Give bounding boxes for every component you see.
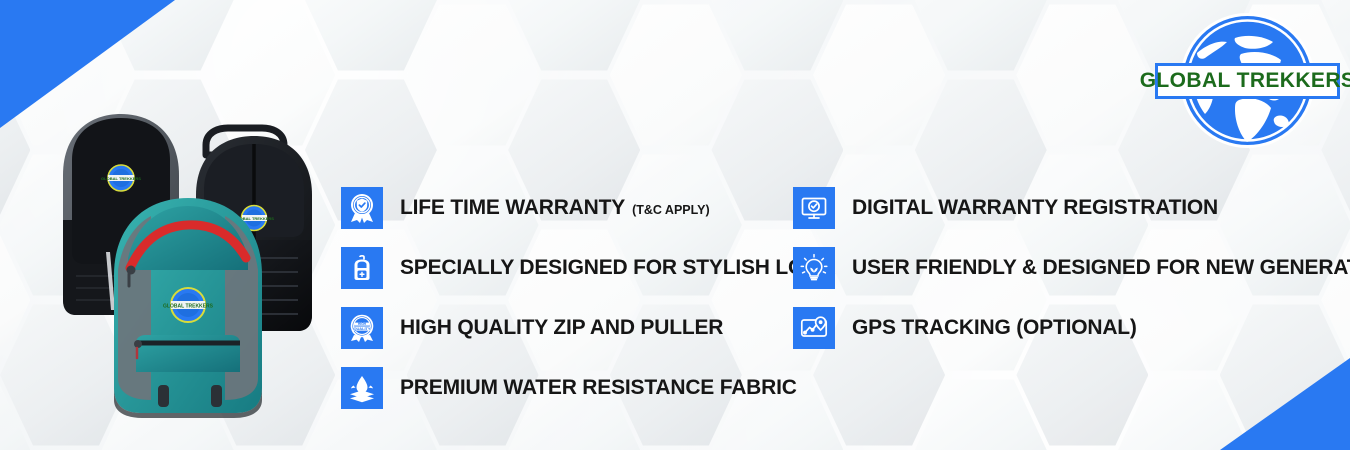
feature-label: SPECIALLY DESIGNED FOR STYLISH LOOK	[400, 256, 835, 280]
feature-text: DIGITAL WARRANTY REGISTRATION	[852, 196, 1218, 219]
feature-item-stylish-look: SPECIALLY DESIGNED FOR STYLISH LOOK	[341, 238, 835, 298]
map-pin-icon	[793, 307, 835, 349]
backpack-icon	[341, 247, 383, 289]
feature-text: USER FRIENDLY & DESIGNED FOR NEW GENERAT…	[852, 256, 1350, 279]
feature-list-right: DIGITAL WARRANTY REGISTRATION	[793, 178, 1350, 358]
feature-label: GPS TRACKING (OPTIONAL)	[852, 316, 1137, 340]
feature-item-digital-warranty: DIGITAL WARRANTY REGISTRATION	[793, 178, 1350, 238]
feature-item-water-resistance: PREMIUM WATER RESISTANCE FABRIC	[341, 358, 835, 418]
feature-text: GPS TRACKING (OPTIONAL)	[852, 316, 1137, 339]
promo-banner: GLOBAL TREKKERS GLOBAL TREKKERS	[0, 0, 1350, 450]
feature-list-left: LIFE TIME WARRANTY(T&C APPLY) SPECIALLY …	[341, 178, 835, 418]
feature-item-user-friendly: USER FRIENDLY & DESIGNED FOR NEW GENERAT…	[793, 238, 1350, 298]
backpacks-illustration: GLOBAL TREKKERS GLOBAL TREKKERS	[18, 100, 328, 445]
brand-logo: GLOBAL TREKKERS	[1155, 8, 1340, 153]
feature-label: PREMIUM WATER RESISTANCE FABRIC	[400, 376, 797, 400]
feature-text: LIFE TIME WARRANTY	[400, 196, 625, 219]
high-quality-badge-icon: HIGH QUALITY	[341, 307, 383, 349]
feature-text: HIGH QUALITY ZIP AND PULLER	[400, 316, 723, 339]
feature-item-life-time-warranty: LIFE TIME WARRANTY(T&C APPLY)	[341, 178, 835, 238]
feature-item-high-quality-zip: HIGH QUALITY HIGH QUALITY ZIP AND PULLER	[341, 298, 835, 358]
monitor-check-icon	[793, 187, 835, 229]
feature-text: SPECIALLY DESIGNED FOR STYLISH LOOK	[400, 256, 835, 279]
feature-label: LIFE TIME WARRANTY(T&C APPLY)	[400, 196, 710, 220]
feature-label: USER FRIENDLY & DESIGNED FOR NEW GENERAT…	[852, 256, 1350, 280]
lightbulb-icon	[793, 247, 835, 289]
svg-text:QUALITY: QUALITY	[353, 326, 370, 331]
teal-backpack: GLOBAL TREKKERS	[114, 198, 262, 418]
svg-text:GLOBAL TREKKERS: GLOBAL TREKKERS	[163, 304, 214, 310]
feature-label: HIGH QUALITY ZIP AND PULLER	[400, 316, 723, 340]
svg-text:GLOBAL TREKKERS: GLOBAL TREKKERS	[101, 176, 141, 181]
feature-text: PREMIUM WATER RESISTANCE FABRIC	[400, 376, 797, 399]
feature-note: (T&C APPLY)	[632, 203, 710, 217]
backpacks-image: GLOBAL TREKKERS GLOBAL TREKKERS	[18, 100, 328, 445]
feature-label: DIGITAL WARRANTY REGISTRATION	[852, 196, 1218, 220]
logo-text: GLOBAL TREKKERS	[1140, 69, 1350, 93]
logo-nameplate: GLOBAL TREKKERS	[1155, 63, 1340, 99]
award-shield-icon	[341, 187, 383, 229]
water-drop-icon	[341, 367, 383, 409]
feature-item-gps-tracking: GPS TRACKING (OPTIONAL)	[793, 298, 1350, 358]
